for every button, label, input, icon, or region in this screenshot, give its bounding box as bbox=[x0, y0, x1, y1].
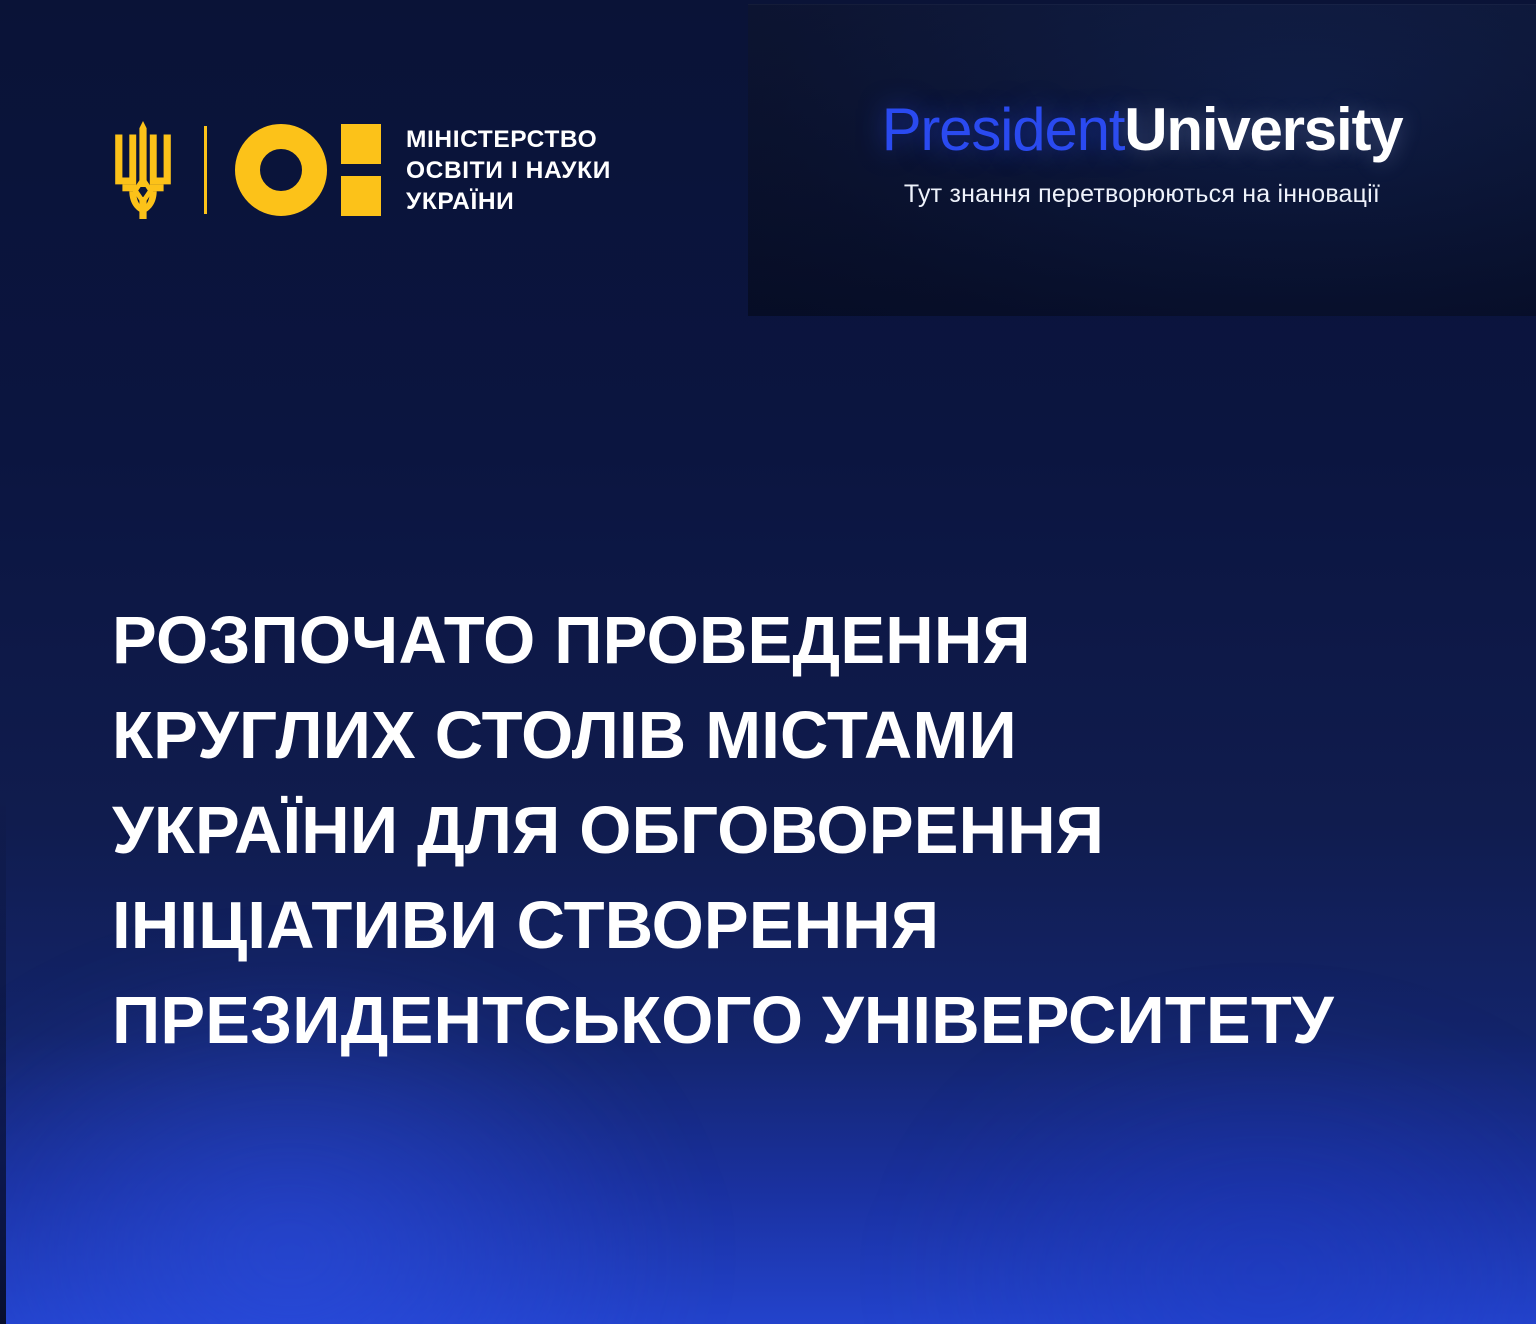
ministry-bar-top bbox=[341, 124, 381, 164]
university-tagline: Тут знання перетворюються на інновації bbox=[748, 178, 1536, 210]
ministry-logo: МІНІСТЕРСТВО ОСВІТИ І НАУКИ УКРАЇНИ bbox=[112, 118, 611, 222]
headline-line-1: РОЗПОЧАТО ПРОВЕДЕННЯ bbox=[112, 593, 1482, 688]
headline-line-4: ІНІЦІАТИВИ СТВОРЕННЯ bbox=[112, 878, 1482, 973]
university-wordmark-university: University bbox=[1124, 96, 1402, 163]
ukraine-trident-emblem-icon bbox=[112, 121, 174, 219]
headline-line-5: ПРЕЗИДЕНТСЬКОГО УНІВЕРСИТЕТУ bbox=[112, 973, 1482, 1068]
ministry-ring-icon bbox=[235, 124, 327, 216]
ministry-mark-icon bbox=[235, 124, 381, 216]
ministry-name-line-3: УКРАЇНИ bbox=[406, 186, 611, 217]
university-wordmark-president: President bbox=[882, 96, 1125, 163]
headline-line-3: УКРАЇНИ ДЛЯ ОБГОВОРЕННЯ bbox=[112, 783, 1482, 878]
university-wordmark: PresidentUniversity bbox=[748, 96, 1536, 164]
university-logo: PresidentUniversity Тут знання перетворю… bbox=[748, 96, 1536, 210]
ministry-bars-icon bbox=[341, 124, 381, 216]
ministry-name: МІНІСТЕРСТВО ОСВІТИ І НАУКИ УКРАЇНИ bbox=[406, 124, 611, 217]
headline-line-2: КРУГЛИХ СТОЛІВ МІСТАМИ bbox=[112, 688, 1482, 783]
ministry-bar-bottom bbox=[341, 176, 381, 216]
logo-divider bbox=[204, 126, 207, 214]
announcement-banner: МІНІСТЕРСТВО ОСВІТИ І НАУКИ УКРАЇНИ Pres… bbox=[0, 0, 1536, 1324]
ministry-name-line-2: ОСВІТИ І НАУКИ bbox=[406, 155, 611, 186]
ministry-name-line-1: МІНІСТЕРСТВО bbox=[406, 124, 611, 155]
page-title: РОЗПОЧАТО ПРОВЕДЕННЯ КРУГЛИХ СТОЛІВ МІСТ… bbox=[112, 593, 1482, 1068]
